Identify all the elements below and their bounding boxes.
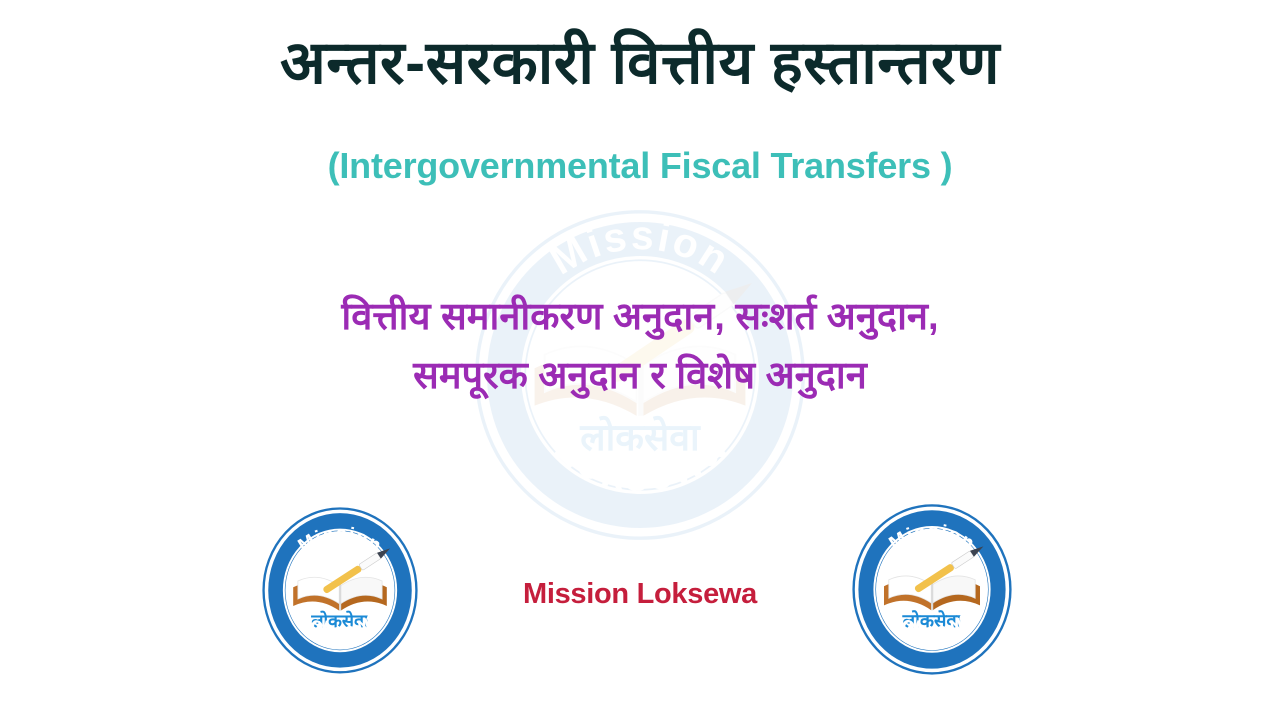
mission-loksewa-logo-left: लोकसेवा Mission Loksewa [262,505,418,675]
slide-body-block: वित्तीय समानीकरण अनुदान, सःशर्त अनुदान, … [0,288,1280,406]
svg-text:लोकसेवा: लोकसेवा [579,415,701,458]
slide-subtitle-english: (Intergovernmental Fiscal Transfers ) [0,144,1280,187]
brand-name-label: Mission Loksewa [440,578,840,611]
body-line-2: समपूरक अनुदान र विशेष अनुदान [0,347,1280,406]
slide-canvas: लोकसेवा Mission Loksewa अन्तर-सरकारी वित… [0,0,1280,720]
svg-text:Mission: Mission [542,212,739,284]
svg-text:Loksewa: Loksewa [545,424,734,501]
slide-title-devanagari: अन्तर-सरकारी वित्तीय हस्तान्तरण [0,28,1280,97]
body-line-1: वित्तीय समानीकरण अनुदान, सःशर्त अनुदान, [0,288,1280,347]
mission-loksewa-logo-right: लोकसेवा Mission Loksewa [852,502,1012,676]
